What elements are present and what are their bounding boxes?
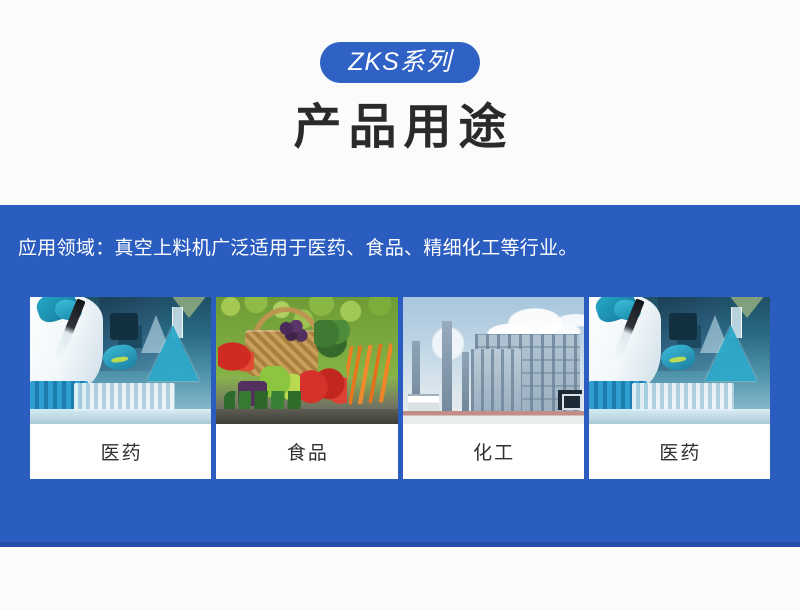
grapes-icon	[278, 320, 311, 348]
application-card-label: 医药	[30, 424, 211, 479]
page-title: 产品用途	[286, 104, 513, 152]
application-card-medicine-1[interactable]: 医药	[30, 297, 211, 479]
pipette-tip-tray-shape	[74, 383, 176, 411]
refinery-structure-center	[471, 349, 522, 413]
laboratory-pipette-flask-photo	[30, 297, 211, 424]
table-surface	[216, 409, 397, 424]
lab-bench-surface	[30, 409, 211, 424]
laboratory-pipette-flask-photo	[589, 297, 770, 424]
plant-sign-board	[558, 390, 582, 410]
distillation-tower-2	[442, 321, 452, 412]
page-footer-space	[0, 547, 800, 610]
erlenmeyer-flask-icon	[705, 325, 757, 381]
fruits-vegetables-basket-photo	[216, 297, 397, 424]
chemical-plant-refinery-photo	[403, 297, 584, 424]
carrots-icon	[345, 344, 396, 406]
application-card-label: 医药	[589, 424, 770, 479]
application-fields-panel: 应用领域：真空上料机广泛适用于医药、食品、精细化工等行业。 医药	[0, 205, 800, 547]
plant-ground-surface	[403, 411, 584, 424]
page-header: ZKS系列 产品用途	[0, 0, 800, 205]
plant-shed-building	[408, 394, 439, 413]
series-badge: ZKS系列	[320, 42, 480, 83]
red-peppers-icon	[218, 340, 254, 373]
lab-bench-surface	[589, 409, 770, 424]
application-card-medicine-2[interactable]: 医药	[589, 297, 770, 479]
application-card-row: 医药 食品	[30, 297, 770, 479]
pipette-tip-tray-shape	[632, 383, 734, 411]
application-card-label: 化工	[403, 424, 584, 479]
application-card-chemical[interactable]: 化工	[403, 297, 584, 479]
erlenmeyer-flask-icon	[147, 325, 199, 381]
application-card-food[interactable]: 食品	[216, 297, 397, 479]
distillation-tower-3	[462, 352, 469, 413]
application-fields-intro-text: 应用领域：真空上料机广泛适用于医药、食品、精细化工等行业。	[18, 235, 578, 263]
application-card-label: 食品	[216, 424, 397, 479]
